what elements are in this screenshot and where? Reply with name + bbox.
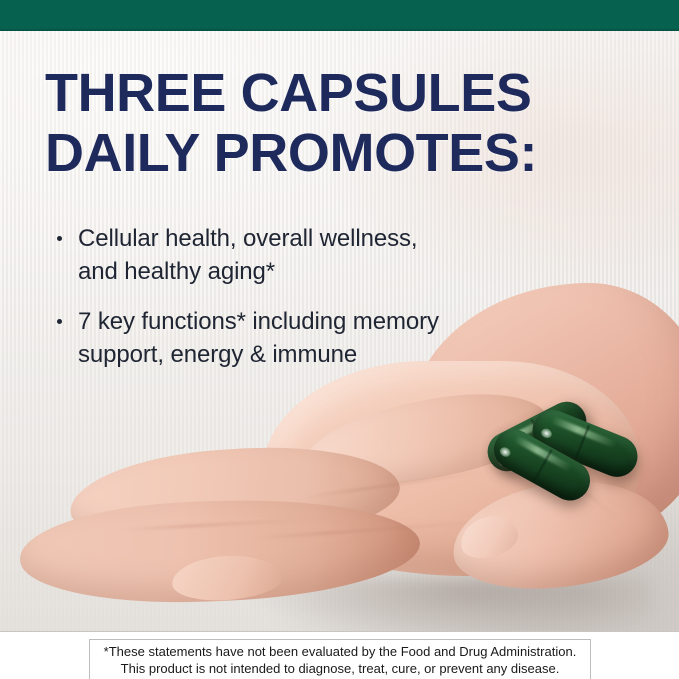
product-infographic-canvas: THREE CAPSULES DAILY PROMOTES: Cellular … [0, 0, 679, 679]
list-item-label: 7 key functions* including memory suppor… [78, 305, 445, 371]
headline-line-2: DAILY PROMOTES: [45, 123, 625, 183]
disclaimer-box: *These statements have not been evaluate… [89, 639, 591, 679]
list-item: 7 key functions* including memory suppor… [45, 305, 445, 371]
disclaimer-line-1: *These statements have not been evaluate… [96, 643, 584, 660]
headline-line-1: THREE CAPSULES [45, 63, 625, 123]
disclaimer-line-2: This product is not intended to diagnose… [96, 660, 584, 677]
benefits-list: Cellular health, overall wellness, and h… [45, 222, 445, 388]
footer-divider [0, 631, 679, 632]
bullet-dot-icon [57, 319, 62, 324]
capsule-highlight [540, 427, 554, 439]
list-item: Cellular health, overall wellness, and h… [45, 222, 445, 288]
bullet-dot-icon [57, 236, 62, 241]
list-item-label: Cellular health, overall wellness, and h… [78, 222, 445, 288]
top-accent-bar-shadow [0, 28, 679, 31]
top-accent-bar [0, 0, 679, 31]
capsule-highlight [498, 445, 512, 458]
page-title: THREE CAPSULES DAILY PROMOTES: [45, 63, 625, 183]
